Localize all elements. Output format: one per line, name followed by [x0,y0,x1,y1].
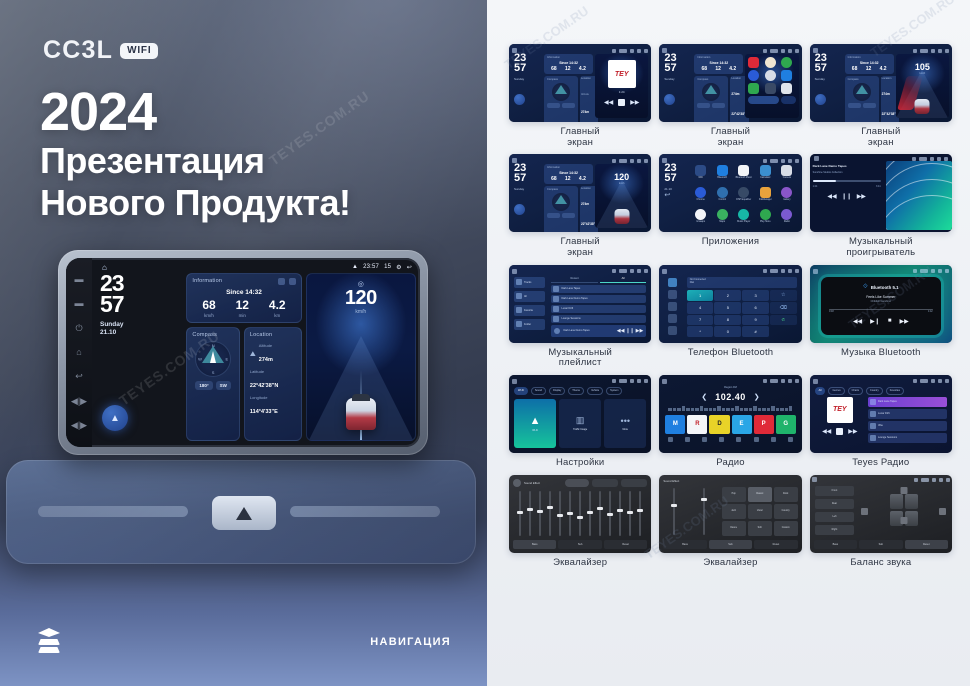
app-item[interactable]: Control [712,187,732,206]
tab-wifi[interactable]: Wi-Fi [514,387,528,395]
longitude-row: Longitude 114°4'33"E [250,395,296,418]
eq-band[interactable] [516,491,524,536]
preset-cell[interactable]: Soft [748,521,772,536]
mini-clock-minutes: 57 [815,64,843,74]
air-vent-left [38,506,188,517]
playlist-tabs[interactable]: Recent All [551,277,646,283]
app-icon-gallery[interactable] [765,70,776,81]
back-icon[interactable]: ↩ [407,264,412,271]
tab-all[interactable]: All [815,387,826,395]
search-icon[interactable] [668,302,677,311]
station-row[interactable]: Vibe [868,421,947,431]
app-icon-youtube[interactable] [748,57,759,68]
app-icon-all-apps[interactable] [781,83,792,94]
dialpad-key[interactable]: # [742,326,769,337]
preset-cell[interactable]: Rock [774,487,798,502]
app-item[interactable]: FileManager [756,187,776,206]
tab-favorites[interactable]: Favorites [886,387,904,395]
thumbnail-home-speed[interactable]: 23 57 Sunday Information Since 14:32 [509,154,651,232]
eq-band[interactable] [546,491,554,536]
app-item[interactable]: DSP Equalizer [734,187,754,206]
sidebar-item-tracks[interactable]: Tracks [514,277,545,288]
level-sliders[interactable] [661,485,716,538]
navigation-arrow-icon[interactable]: ▲ [102,405,128,431]
app-item[interactable]: Music Player [734,209,754,228]
tab-recent[interactable]: Recent [551,277,597,283]
thumbnail-bluetooth-music[interactable]: ⟐ Bluetooth 5.1 Feels Like Summer Childi… [810,265,952,343]
mini-clock-weekday: Sunday [815,77,843,81]
preset-cell[interactable]: Jazz [722,504,746,519]
bluetooth-version: Bluetooth 5.1 [871,285,899,290]
compass-label-n: N [212,343,215,348]
dialpad-key[interactable]: 2 [714,290,741,302]
sidebar-item-favorites[interactable]: Favorite [514,305,545,316]
bt-controls[interactable]: ◀◀ ▶❙ ■ ▶▶ [821,318,941,325]
thumbnail-radio[interactable]: Region FM ❮ 102.40 ❯ M [659,375,801,453]
band-icon[interactable] [668,437,673,442]
sidebar-item-all[interactable]: All [514,291,545,302]
equalizer-footer[interactable]: Bass Sub Reset [812,538,950,551]
clock-widget[interactable]: 23 57 Sunday 21.10 ▲ [96,273,182,441]
mode-key-icon[interactable]: ▬ [75,299,84,308]
tab-genres[interactable]: Genres [828,387,844,395]
clock-minutes: 57 [100,294,182,315]
drive-view-card[interactable]: ◎ 120 km/h [306,273,416,441]
app-item[interactable]: Camera [777,165,797,184]
station-row[interactable]: Lounge Sessions [868,433,947,443]
mini-clock-minutes: 57 [514,64,542,74]
equalizer-bands[interactable] [511,489,649,538]
call-icon[interactable]: ✆ [770,315,797,326]
tab-country[interactable]: Country [866,387,883,395]
ta-icon[interactable] [754,437,759,442]
dialpad-key[interactable]: 0 [714,326,741,337]
dialpad-key[interactable]: 4 [687,302,714,314]
dialpad-key[interactable]: 9 [742,315,769,326]
eq-band[interactable] [596,491,604,536]
balance-stage[interactable] [857,483,950,538]
contacts-icon[interactable] [668,314,677,323]
volume-level: 15 [384,264,391,270]
compass-title: Compass [192,332,217,338]
mini-player-controls[interactable]: ◀◀▶▶ [595,99,648,106]
back-key-icon[interactable]: ↩ [75,372,83,381]
settings-card-wifi[interactable]: ▲ Wi-Fi [514,399,556,448]
tuner-scale[interactable] [668,404,792,411]
eq-band[interactable] [566,491,574,536]
station-row[interactable]: Lunar Drift [868,409,947,419]
speed-value: 120 [307,288,415,308]
car-graphic [915,99,930,114]
gallery-item[interactable]: 23 57 Sunday Information Since 14:32 [810,44,952,148]
eq-band[interactable] [556,491,564,536]
dialpad-key[interactable]: 8 [714,315,741,326]
app-icon-chrome[interactable] [748,70,759,81]
car-graphic [346,398,376,430]
gallery-item[interactable]: All Genres Charts Country Favorites TEY … [810,375,952,469]
eq-band[interactable] [616,491,624,536]
footer-button-reset[interactable]: Reset [754,540,797,549]
gallery-item[interactable]: ⟐ Bluetooth 5.1 Feels Like Summer Childi… [810,265,952,369]
teyes-radio-tabs[interactable]: All Genres Charts Country Favorites [813,385,949,397]
settings-card-more[interactable]: ••• More [604,399,646,448]
preset-button[interactable]: D [709,415,729,434]
compass-label-w: W [198,357,202,362]
app-item[interactable]: Chrome [691,187,711,206]
equalizer-header[interactable]: Sound Effect [511,477,649,489]
up-arrow-icon[interactable] [900,487,907,494]
cover-panel: TEY ◀◀▶▶ [815,397,865,448]
car-roof [352,394,370,401]
preset-cell[interactable]: Dance [722,521,746,536]
information-actions[interactable] [278,278,296,285]
volume-up-key-icon[interactable]: ◀|▶ [71,397,87,406]
progress-bar[interactable] [813,180,881,182]
bt-time-total: 4:42 [928,310,933,313]
preset-button[interactable]: E [732,415,752,434]
gallery-caption: Музыкальныйплейлист [548,348,612,369]
app-item[interactable]: Calculator [756,165,776,184]
footer-button-bass[interactable]: Bass [663,540,706,549]
eq-band[interactable] [576,491,584,536]
thumbnail-apps[interactable]: 23 57 21.10 ↩ WiFi Bluetooth Bluetooth M… [659,154,801,232]
location-title: Location [250,332,296,338]
thumbnail-equalizer-presets[interactable]: Sound Effect Pop Classic Rock J [659,475,801,553]
balance-preset-rear[interactable]: Rear [815,499,855,509]
mini-alt-value: 274m [581,202,589,206]
playlist-sidebar[interactable]: Tracks All Favorite Folder [512,275,547,339]
gallery-caption: Телефон Bluetooth [688,348,774,359]
balance-preset-front[interactable]: Front [815,486,855,496]
settings-tabs[interactable]: Wi-Fi Sound Display Theme Vehicle System [512,385,648,397]
wifi-badge: WIFI [120,43,158,59]
footer-button-bass[interactable]: Bass [814,540,857,549]
app-icon-bluetooth[interactable] [781,70,792,81]
trip-stat-value: 4.2 [269,299,286,311]
playlist-row[interactable]: Lunar Drift [551,305,646,313]
head-unit-display[interactable]: ⌂ ▲ 23:57 15 ⚙ ↩ 23 57 Sunday 21.10 [92,258,420,447]
head-unit-hard-keys[interactable]: ▬ ▬ ⏻ ⌂ ↩ ◀|▶ ◀|▶ [66,258,92,447]
eq-icon [513,479,521,487]
mini-nav-button[interactable] [664,94,675,105]
eq-band[interactable] [586,491,594,536]
status-bar: ⌂ ▲ 23:57 15 ⚙ ↩ [96,261,416,273]
tab-charts[interactable]: Charts [848,387,863,395]
preset-button[interactable]: M [665,415,685,434]
screenshot-gallery: TEYES.COM.RU TEYES.COM.RU TEYES.COM.RU T… [487,0,970,686]
list-icon[interactable] [702,437,707,442]
app-icon-settings[interactable] [765,83,776,94]
station-row[interactable]: Dark Lane Tapes [868,397,947,407]
level-slider[interactable] [692,488,717,535]
presentation-slide: TEYES.COM.RU TEYES.COM.RU CC3L WIFI 2024… [0,0,970,686]
mini-alt-value: 274m [581,110,589,114]
gallery-item[interactable]: Wi-Fi Sound Display Theme Vehicle System… [509,375,651,469]
eq-icon[interactable] [719,437,724,442]
preset-toggle[interactable] [565,479,589,487]
playlist-main[interactable]: Recent All Dark Lane Tapes Dark Lane Dem… [549,275,648,339]
equalizer-title: Sound Effect [663,479,679,483]
playlist-mini-player[interactable]: Dark Lane Demo Tapes ◀◀ ❙❙ ▶▶ [551,325,646,337]
album-art: TEY [827,397,853,423]
gallery-caption: Радио [716,458,744,469]
bt-track-artist: Childish Gambino [821,300,941,303]
latitude-row: Latitude 22°42'38"N [250,369,296,392]
af-icon[interactable] [771,437,776,442]
equalizer-footer[interactable]: Bass Sub Reset [661,538,799,551]
time-total: 3:41 [876,185,881,188]
next-icon[interactable]: ▶▶ [899,318,908,325]
back-icon[interactable]: ↩ [664,191,687,199]
equalizer-footer[interactable]: Bass Sub Reset [511,538,649,551]
player-controls[interactable]: ◀◀▶▶ [822,428,857,435]
preset-cell[interactable]: Pop [722,487,746,502]
dialer-subtitle: Dial [690,281,794,284]
thumbnail-home-speed-red[interactable]: 23 57 Sunday Information Since 14:32 [810,44,952,122]
mini-stat: 68 [551,66,557,72]
footer-button-bass[interactable]: Bass [513,540,556,549]
compass-card[interactable]: Compass N E S W [186,327,240,441]
head-unit-screen[interactable]: ▬ ▬ ⏻ ⌂ ↩ ◀|▶ ◀|▶ ⌂ ▲ 23:57 15 ⚙ ↩ [66,258,420,447]
mini-alt-label: Altitude [581,93,589,96]
gallery-item[interactable]: Sound Effect [509,475,651,569]
trip-since: Since 14:32 [192,289,295,296]
app-item[interactable]: Gmaaps [691,209,711,228]
track-subtitle: Sunshine Studios Collection [813,171,843,174]
gallery-caption: Баланс звука [850,558,911,569]
footer-button-sub[interactable]: Sub [859,540,902,549]
dialpad[interactable]: 1 2 3 ☆ 4 5 6 ⌫ 7 8 [687,290,797,337]
thumbnail-settings[interactable]: Wi-Fi Sound Display Theme Vehicle System… [509,375,651,453]
dialer-sidebar[interactable] [662,275,682,339]
app-item[interactable]: Radio [777,209,797,228]
settings-card-traffic[interactable]: ▥ Traffic Usage [559,399,601,448]
eq-band[interactable] [626,491,634,536]
menu-key-icon[interactable]: ▬ [75,275,84,284]
favorite-icon[interactable]: ☆ [770,290,797,302]
preset-cell[interactable]: Country [774,504,798,519]
app-item[interactable]: WiFi [691,165,711,184]
thumbnail-playlist[interactable]: Tracks All Favorite Folder Recent All [509,265,651,343]
sidebar-item-folders[interactable]: Folder [514,319,545,330]
mini-compass-title: Compass [848,78,876,81]
dialpad-key[interactable]: * [687,326,714,337]
preset-grid[interactable]: Pop Classic Rock Jazz Vocal Country Danc… [720,485,800,538]
app-icon-maps[interactable] [781,57,792,68]
prev-icon[interactable]: ◀◀ [853,318,862,325]
chevron-right-icon[interactable]: ❯ [754,393,760,401]
balance-presets[interactable]: Front Rear Left Right [812,483,858,538]
app-item[interactable]: Play Store [756,209,776,228]
left-arrow-icon[interactable] [861,508,868,515]
app-item[interactable]: Gallery [777,187,797,206]
tab-theme[interactable]: Theme [568,387,584,395]
preset-button[interactable]: P [754,415,774,434]
dashboard-mock: ▬ ▬ ⏻ ⌂ ↩ ◀|▶ ◀|▶ ⌂ ▲ 23:57 15 ⚙ ↩ [0,238,487,686]
recent-calls-icon[interactable] [668,290,677,299]
gallery-item[interactable]: Front Rear Left Right [810,475,952,569]
down-arrow-icon[interactable] [900,517,907,524]
playlist-row[interactable]: Dark Lane Tapes [551,285,646,293]
gallery-item[interactable]: Tracks All Favorite Folder Recent All [509,265,651,369]
preset-button[interactable]: G [776,415,796,434]
gallery-item[interactable]: Sound Effect Pop Classic Rock J [659,475,801,569]
refresh-icon[interactable] [278,278,285,285]
footer-button-reset[interactable]: Reset [905,540,948,549]
mini-stat: 68 [551,176,557,182]
mini-dock-button[interactable] [781,96,795,104]
settings-cards[interactable]: ▲ Wi-Fi ▥ Traffic Usage ••• More [512,397,648,450]
playlist-row[interactable]: Lounge Sessions [551,315,646,323]
mini-nav-button[interactable] [815,94,826,105]
tab-system[interactable]: System [606,387,622,395]
tab-vehicle[interactable]: Vehicle [587,387,603,395]
speed-unit: km/h [307,309,415,315]
now-playing-panel: Dark Lane Demo Tapes Sunshine Studios Co… [810,161,884,230]
gallery-item[interactable]: 23 57 Sunday Information Since 14:32 [509,44,651,148]
thumbnail-home-apps[interactable]: 23 57 Sunday Information Since 14:32 [659,44,801,122]
right-arrow-icon[interactable] [939,508,946,515]
gallery-caption: Эквалайзер [553,558,607,569]
gallery-caption: Музыка Bluetooth [841,348,921,359]
eq-band[interactable] [536,491,544,536]
gallery-item[interactable]: 23 57 Sunday Information Since 14:32 [509,154,651,258]
track-row[interactable]: Dark Lane Demo Tapes [813,164,881,168]
equalizer-preset-label: Sound Effect [524,481,540,485]
app-item[interactable]: Bluetooth [712,165,732,184]
gallery-item[interactable]: Dark Lane Demo Tapes Sunshine Studios Co… [810,154,952,258]
gear-icon[interactable]: ⚙ [396,264,402,271]
dialpad-key[interactable]: 5 [714,302,741,314]
app-item[interactable]: Maps [712,209,732,228]
gallery-item[interactable]: 23 57 21.10 ↩ WiFi Bluetooth Bluetooth M… [659,154,801,258]
home-content: 23 57 Sunday 21.10 ▲ Information [96,273,416,441]
thumbnail-teyes-radio[interactable]: All Genres Charts Country Favorites TEY … [810,375,952,453]
reset-button[interactable] [592,479,618,487]
app-item[interactable]: Bluetooth Music [734,165,754,184]
gear-icon[interactable] [788,437,793,442]
app-icon-play-store[interactable] [748,83,759,94]
dialpad-key[interactable]: 3 [742,290,769,302]
volume-down-key-icon[interactable]: ◀|▶ [71,421,87,430]
trip-stat-unit: km [269,313,286,318]
mini-alt-value: 274m [882,92,890,96]
mini-alt-value: 274m [731,92,739,96]
thumbnail-sound-balance[interactable]: Front Rear Left Right [810,475,952,553]
thumbnail-music-player[interactable]: Dark Lane Demo Tapes Sunshine Studios Co… [810,154,952,232]
dialpad-key[interactable]: 1 [687,290,714,302]
mini-since: Since 14:32 [697,61,740,65]
chevron-left-icon[interactable]: ❮ [701,393,707,401]
dialpad-key[interactable]: 6 [742,302,769,314]
player-controls[interactable]: ◀◀❙❙▶▶ [813,193,881,200]
save-button[interactable] [621,479,647,487]
tab-display[interactable]: Display [549,387,565,395]
gallery-item[interactable]: 23 57 Sunday Information Since 14:32 [659,44,801,148]
product-logo: CC3L WIFI [43,36,158,65]
air-vent-right [290,506,440,517]
tab-sound[interactable]: Sound [531,387,546,395]
tab-all[interactable]: All [600,277,646,283]
clock-date: 21.10 [100,329,182,337]
footer-button-reset[interactable]: Reset [604,540,647,549]
mini-dock-button[interactable] [748,96,779,104]
mini-stat: 4.2 [579,66,586,72]
mini-info-title: Information [697,56,740,59]
stop-icon[interactable]: ■ [888,318,892,325]
preset-cell[interactable]: Classic [748,487,772,502]
footer-button-sub[interactable]: Sub [709,540,752,549]
trip-stats: 68 km/h 12 min 4.2 km [192,299,295,318]
app-grid[interactable]: WiFi Bluetooth Bluetooth Music Calculato… [689,164,799,228]
mini-compass-title: Compass [697,78,725,81]
expand-icon[interactable] [289,278,296,285]
thumbnail-equalizer-sliders[interactable]: Sound Effect [509,475,651,553]
gallery-item[interactable]: Not Connected Dial 1 2 3 ☆ 4 5 [659,265,801,369]
mini-stat: 4.2 [880,66,887,72]
more-icon: ••• [621,416,630,426]
mini-stat: 12 [715,66,721,72]
trip-stat-value: 68 [202,299,215,311]
loc-icon[interactable] [736,437,741,442]
preset-cell[interactable]: Vocal [748,504,772,519]
eq-band[interactable] [606,491,614,536]
power-key-icon[interactable]: ⏻ [75,324,82,333]
play-pause-icon[interactable]: ▶❙ [870,318,880,325]
widget-column: Information Since 14:32 68 km/h [186,273,301,441]
gear-icon[interactable] [668,326,677,335]
mini-nav-button[interactable] [514,94,525,105]
mini-clock-minutes: 57 [664,174,687,184]
search-icon[interactable] [685,437,690,442]
dialpad-key[interactable]: 7 [687,315,714,326]
hazard-button[interactable] [212,496,276,530]
radio-toolbar[interactable] [662,437,798,442]
compass-heading: 180° [195,381,212,390]
dialer-status: Not Connected Dial [687,277,797,288]
radio-band: Region FM [662,386,798,389]
bluetooth-icon: ⟐ [863,284,868,291]
balance-preset-left[interactable]: Left [815,512,855,522]
location-card[interactable]: Location ⛰ Altitude 274m [244,327,302,441]
thumbnail-home-music[interactable]: 23 57 Sunday Information Since 14:32 [509,44,651,122]
balance-preset-right[interactable]: Right [815,525,855,535]
home-key-icon[interactable]: ⌂ [76,348,81,357]
radio-presets[interactable]: M R D E P G [662,415,798,434]
preset-cell[interactable]: Custom [774,521,798,536]
station-list[interactable]: Dark Lane Tapes Lunar Drift Vibe Lounge … [868,397,947,448]
dialer-main[interactable]: Not Connected Dial 1 2 3 ☆ 4 5 [685,275,799,339]
information-card[interactable]: Information Since 14:32 68 km/h [186,273,301,323]
app-icon-camera[interactable] [765,57,776,68]
preset-button[interactable]: R [687,415,707,434]
gallery-item[interactable]: Region FM ❮ 102.40 ❯ M [659,375,801,469]
mini-nav-button[interactable] [514,204,525,215]
eq-band[interactable] [526,491,534,536]
trip-stat: 12 min [236,299,249,318]
playlist-row[interactable]: Dark Lane Demo Tapes [551,295,646,303]
mini-since: Since 14:32 [547,171,590,175]
eq-band[interactable] [636,491,644,536]
thumbnail-bluetooth-phone[interactable]: Not Connected Dial 1 2 3 ☆ 4 5 [659,265,801,343]
radio-tuner[interactable]: ❮ 102.40 ❯ [662,392,798,402]
bt-time-elapsed: 0:48 [829,310,834,313]
level-slider[interactable] [661,488,686,535]
backspace-icon[interactable]: ⌫ [770,302,797,314]
altitude-label: Altitude [259,343,273,348]
footer-button-sub[interactable]: Sub [558,540,601,549]
dialpad-icon[interactable] [668,278,677,287]
